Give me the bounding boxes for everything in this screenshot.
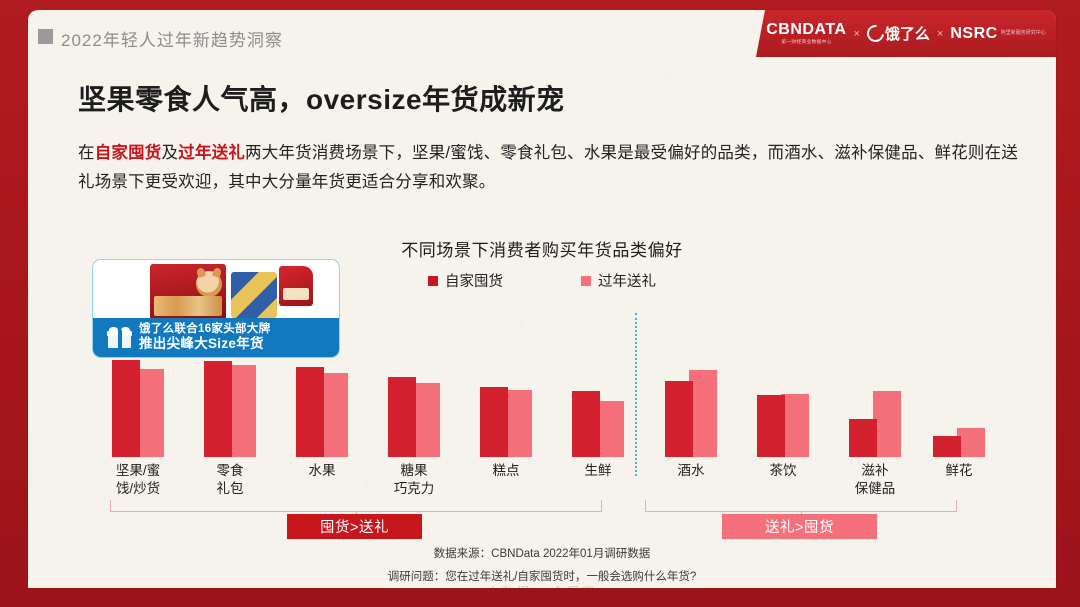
dotted-vertical-divider-icon [635, 313, 637, 476]
bar-gift [320, 373, 348, 457]
category-label: 水果 [274, 462, 370, 480]
bar-hoard [933, 436, 961, 457]
group-label-1: 送礼>囤货 [722, 514, 877, 539]
category-label: 糕点 [458, 462, 554, 480]
bar-group [388, 10, 440, 457]
bar-group [757, 10, 809, 457]
bar-gift [781, 394, 809, 457]
category-label: 坚果/蜜饯/炒货 [90, 462, 186, 498]
bar-group [572, 10, 624, 457]
bar-hoard [204, 361, 232, 457]
category-label: 生鲜 [550, 462, 646, 480]
category-label: 鲜花 [911, 462, 1007, 480]
bar-hoard [388, 377, 416, 457]
group-bracket-0 [110, 500, 602, 512]
bar-hoard [849, 419, 877, 457]
bar-gift [957, 428, 985, 457]
bar-gift [689, 370, 717, 457]
category-label: 零食礼包 [182, 462, 278, 498]
bar-group [112, 10, 164, 457]
bar-hoard [757, 395, 785, 457]
bar-group [849, 10, 901, 457]
category-label: 酒水 [643, 462, 739, 480]
bar-hoard [480, 387, 508, 457]
bar-group [480, 10, 532, 457]
bar-group [933, 10, 985, 457]
category-label: 糖果巧克力 [366, 462, 462, 498]
group-bracket-1 [645, 500, 957, 512]
watermark-text: 大数据 · 全洞察 [28, 583, 1056, 588]
bar-group [665, 10, 717, 457]
bar-group [204, 10, 256, 457]
bar-chart: 坚果/蜜饯/炒货零食礼包水果糖果巧克力糕点生鲜酒水茶饮滋补保健品鲜花 囤货>送礼… [28, 10, 1056, 588]
bar-hoard [572, 391, 600, 457]
data-source-note: 数据来源：CBNData 2022年01月调研数据 [28, 545, 1056, 561]
slide-page: 2022年轻人过年新趋势洞察 CBNDATA 第一财经商业数据中心 × 饿了么 … [28, 10, 1056, 588]
bar-gift [228, 365, 256, 457]
category-label: 茶饮 [735, 462, 831, 480]
bar-hoard [665, 381, 693, 457]
bar-hoard [112, 360, 140, 457]
slide-red-frame: 2022年轻人过年新趋势洞察 CBNDATA 第一财经商业数据中心 × 饿了么 … [0, 0, 1080, 607]
bar-gift [504, 390, 532, 457]
survey-question-note: 调研问题：您在过年送礼/自家囤货时，一般会选购什么年货? [28, 568, 1056, 584]
bar-hoard [296, 367, 324, 457]
bar-gift [873, 391, 901, 457]
category-label: 滋补保健品 [827, 462, 923, 498]
bar-group [296, 10, 348, 457]
bar-gift [136, 369, 164, 457]
group-label-0: 囤货>送礼 [287, 514, 422, 539]
bar-gift [596, 401, 624, 457]
bar-gift [412, 383, 440, 457]
